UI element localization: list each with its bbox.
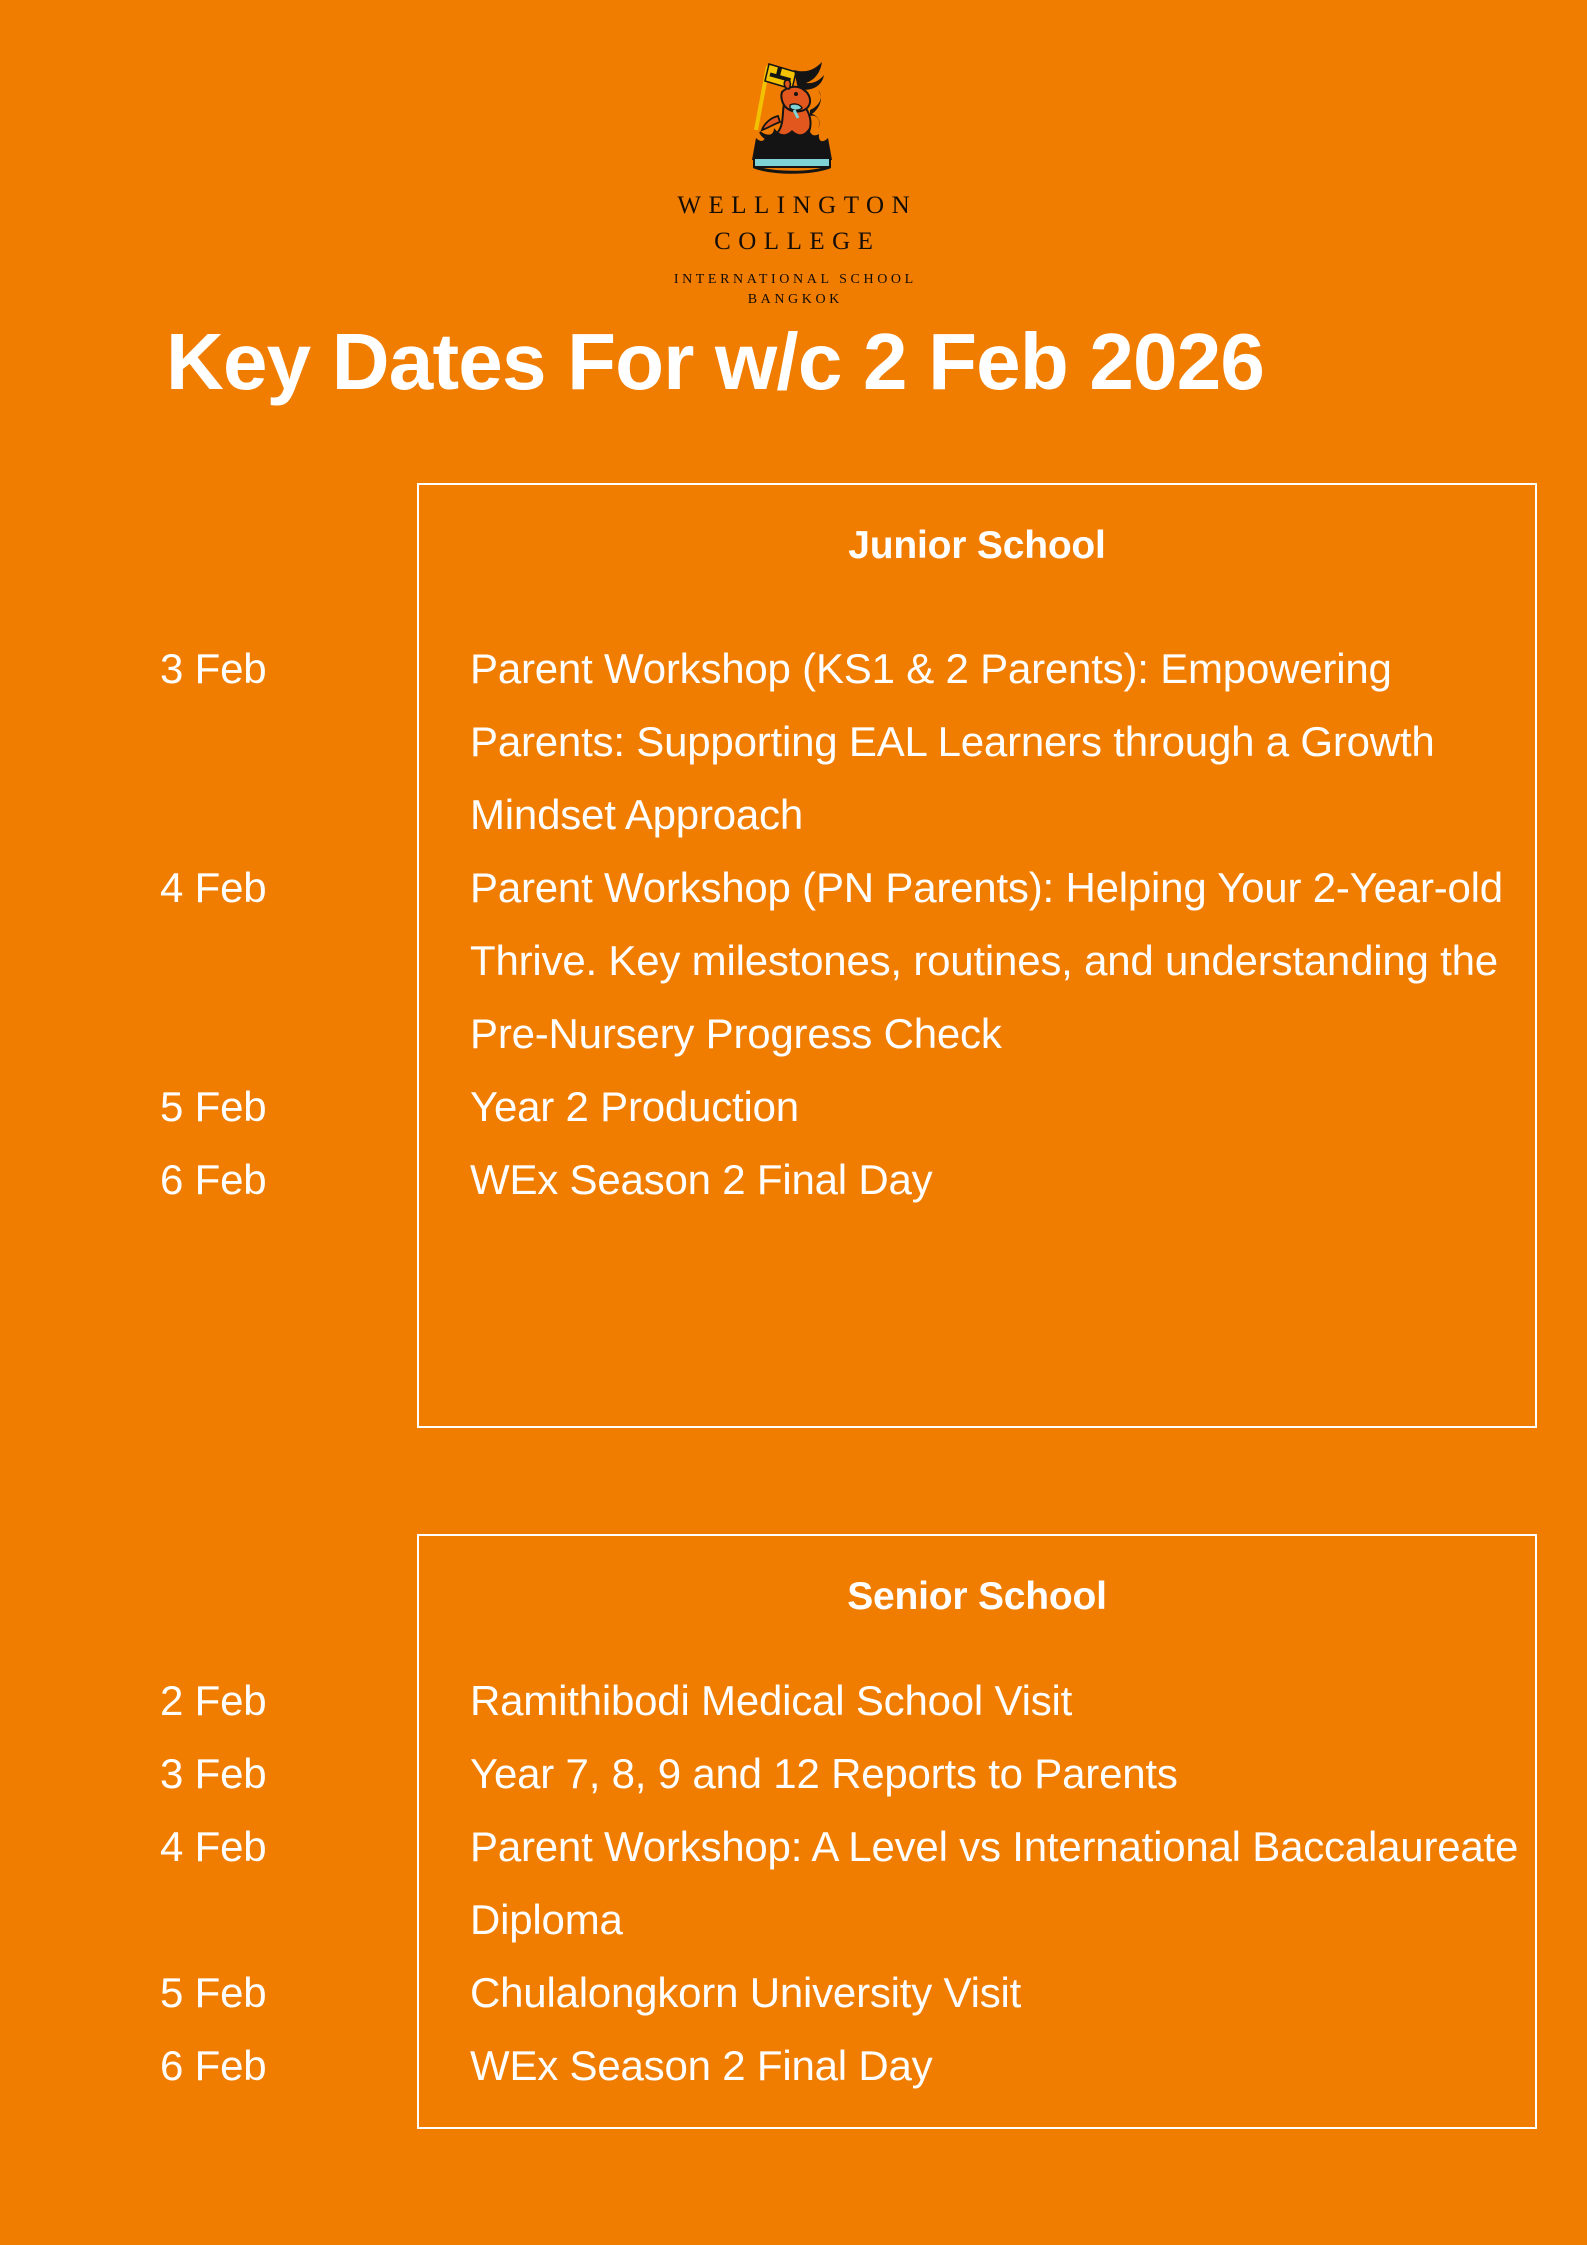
table-row: 4 Feb Parent Workshop: A Level vs Intern… [0, 1810, 1587, 1956]
table-row: 5 Feb Year 2 Production [0, 1070, 1587, 1143]
row-description: Parent Workshop (KS1 & 2 Parents): Empow… [310, 632, 1587, 851]
row-date: 4 Feb [0, 1810, 310, 1883]
row-date: 4 Feb [0, 851, 310, 924]
table-row: 6 Feb WEx Season 2 Final Day [0, 1143, 1587, 1216]
row-date: 6 Feb [0, 1143, 310, 1216]
table-row: 3 Feb Year 7, 8, 9 and 12 Reports to Par… [0, 1737, 1587, 1810]
row-date: 2 Feb [0, 1664, 310, 1737]
logo-line-international-school: INTERNATIONAL SCHOOL [0, 270, 1587, 290]
wellington-lion-crest-icon [734, 48, 854, 174]
logo-line-college: COLLEGE [0, 224, 1587, 260]
school-logo: WELLINGTON COLLEGE INTERNATIONAL SCHOOL … [0, 48, 1587, 311]
row-description: WEx Season 2 Final Day [310, 2029, 1587, 2102]
row-date: 5 Feb [0, 1956, 310, 2029]
row-description: Year 7, 8, 9 and 12 Reports to Parents [310, 1737, 1587, 1810]
junior-school-rows: 3 Feb Parent Workshop (KS1 & 2 Parents):… [0, 632, 1587, 1216]
junior-school-heading: Junior School [417, 524, 1537, 568]
row-description: Chulalongkorn University Visit [310, 1956, 1587, 2029]
row-date: 5 Feb [0, 1070, 310, 1143]
table-row: 2 Feb Ramithibodi Medical School Visit [0, 1664, 1587, 1737]
table-row: 3 Feb Parent Workshop (KS1 & 2 Parents):… [0, 632, 1587, 851]
row-description: Ramithibodi Medical School Visit [310, 1664, 1587, 1737]
row-description: Year 2 Production [310, 1070, 1587, 1143]
row-description: Parent Workshop: A Level vs Internationa… [310, 1810, 1587, 1956]
row-date: 3 Feb [0, 1737, 310, 1810]
senior-school-heading: Senior School [417, 1575, 1537, 1619]
row-date: 6 Feb [0, 2029, 310, 2102]
logo-line-wellington: WELLINGTON [0, 188, 1587, 224]
senior-school-rows: 2 Feb Ramithibodi Medical School Visit 3… [0, 1664, 1587, 2102]
table-row: 6 Feb WEx Season 2 Final Day [0, 2029, 1587, 2102]
table-row: 4 Feb Parent Workshop (PN Parents): Help… [0, 851, 1587, 1070]
row-description: Parent Workshop (PN Parents): Helping Yo… [310, 851, 1587, 1070]
row-description: WEx Season 2 Final Day [310, 1143, 1587, 1216]
table-row: 5 Feb Chulalongkorn University Visit [0, 1956, 1587, 2029]
page-title: Key Dates For w/c 2 Feb 2026 [166, 322, 1264, 402]
logo-line-bangkok: BANGKOK [0, 290, 1587, 310]
row-date: 3 Feb [0, 632, 310, 705]
